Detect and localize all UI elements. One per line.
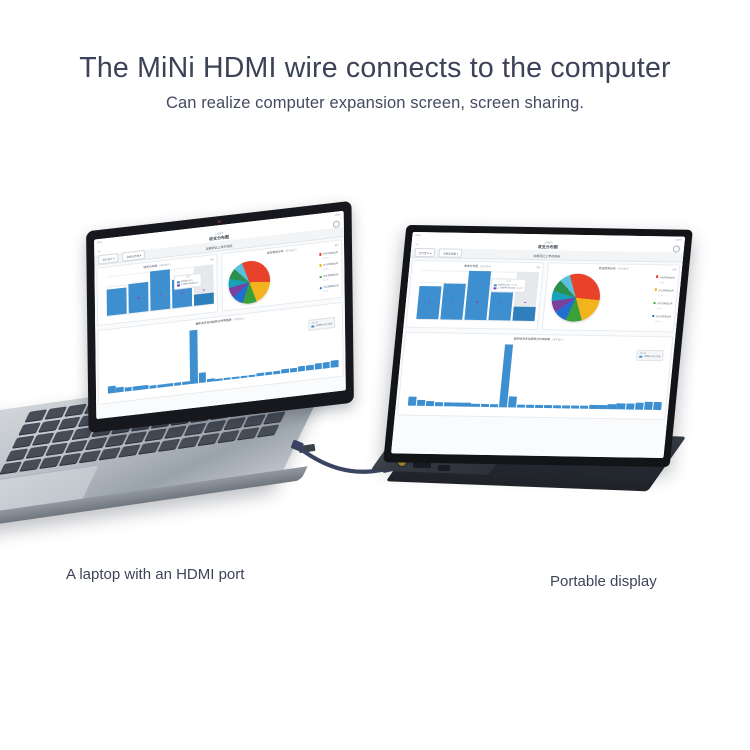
key[interactable] — [204, 420, 226, 433]
histogram-panel: 最新收支变动趋势分布明细表 (全年合计) 较上期 当期统计(亿) 月度 — [397, 332, 674, 420]
legend-value: 44.2% — [659, 282, 665, 284]
pie-panel-title: 收支类型分布 — [267, 249, 284, 255]
histogram-bar — [116, 387, 124, 393]
pie-panel-more[interactable]: 更多 — [335, 242, 339, 247]
key[interactable] — [32, 433, 54, 446]
key[interactable] — [25, 446, 47, 459]
histogram-bar — [323, 361, 331, 368]
histogram-bar — [417, 400, 426, 406]
pie-panel-subtitle: (全行合计) — [617, 267, 629, 271]
key[interactable] — [224, 417, 246, 430]
key[interactable] — [12, 436, 34, 449]
legend-swatch — [494, 285, 497, 287]
histogram-bar — [232, 376, 239, 379]
histogram-bar — [453, 403, 462, 407]
histogram-bar — [526, 405, 535, 408]
bar-panel-subtitle: (全行合计) — [159, 262, 170, 267]
key[interactable] — [178, 436, 200, 449]
key[interactable] — [65, 440, 87, 453]
page-subtitle: Can realize computer expansion screen, s… — [0, 94, 750, 113]
histogram-bar — [273, 370, 281, 374]
legend-swatch — [312, 325, 315, 327]
histogram-bar — [508, 396, 517, 407]
key[interactable] — [263, 412, 285, 425]
histogram-bar — [157, 384, 165, 388]
histogram-bar — [141, 385, 149, 390]
dashboard-section-title: 当期同比上年的指标 — [206, 244, 233, 251]
legend-label: 当期统计(亿) 月度 — [316, 323, 332, 328]
legend-swatch — [319, 253, 321, 256]
laptop-screen[interactable]: iPad 100% ← 上海银行 收支分布图 全行合计 ▾ 全部业务类 ▾ — [94, 211, 346, 419]
bar-inner — [512, 307, 536, 321]
portable-display-panel: iPad 100% ← 上海银行 收支分布图 全行合计 ▾ 全部业务类 ▾ — [383, 225, 693, 467]
caption-laptop: A laptop with an HDMI port — [66, 566, 244, 583]
histogram-bar — [471, 404, 480, 407]
histogram-bar — [626, 403, 635, 409]
legend-label: 对私存款类业务 — [660, 277, 676, 279]
legend-value: 11.5% — [657, 308, 662, 310]
histogram-legend: 较上期 当期统计(亿) 月度 — [636, 350, 664, 361]
key[interactable] — [197, 433, 219, 446]
bar-column — [416, 270, 443, 319]
histogram-bar — [562, 406, 571, 409]
bar-panel-more[interactable]: 更多 — [210, 257, 214, 262]
legend-label: 对公贷款类业务 — [323, 285, 338, 289]
histogram-bars — [107, 313, 338, 393]
dashboard-top-row: 收支分布图 (全行合计) 更多 上月 — [403, 258, 682, 335]
overlay-point — [476, 301, 478, 302]
histogram-chart: 较上期 当期统计(亿) 月度 — [408, 343, 667, 410]
status-right: 100% — [676, 238, 682, 241]
histogram-bar — [435, 402, 444, 407]
histogram-bar — [306, 364, 314, 370]
legend-swatch — [652, 315, 655, 317]
key[interactable] — [59, 453, 81, 466]
hist-panel-header: 最新收支变动趋势分布明细表 (全年合计) — [407, 335, 670, 344]
overlay-point — [203, 289, 204, 291]
histogram-bar — [462, 403, 471, 407]
histogram-bar — [215, 378, 222, 381]
bar-panel-header: 收支分布图 (全行合计) — [414, 263, 541, 269]
key[interactable] — [98, 448, 120, 461]
histogram-bar — [265, 372, 273, 376]
histogram-bar — [248, 374, 255, 377]
heading-block: The MiNi HDMI wire connects to the compu… — [0, 52, 750, 113]
legend-label: 对公存款类业务 — [658, 290, 674, 292]
key[interactable] — [118, 445, 140, 458]
bar-column — [440, 270, 467, 319]
histogram-bar — [290, 367, 298, 372]
overlay-point — [428, 302, 430, 303]
pie-chart-legend: 对私存款类业务44.2% 对公存款类业务21.3% 对私贷款类业务11.5% — [319, 251, 339, 294]
bar-chart: 上月 收支统计(亿) 上月期平均日均(亿) — [106, 264, 213, 316]
status-left: iPad — [97, 240, 102, 244]
caption-portable-display: Portable display — [550, 573, 657, 590]
legend-value: 8.7% — [655, 321, 660, 323]
legend-value: 21.3% — [323, 268, 328, 271]
histogram-bar — [544, 406, 553, 409]
bar-panel-title: 收支分布图 — [464, 264, 478, 268]
bar-column — [464, 271, 491, 320]
bar-inner — [194, 293, 214, 306]
histogram-bar — [480, 404, 489, 407]
histogram-bar — [281, 369, 289, 374]
key[interactable] — [78, 450, 100, 463]
legend-swatch — [639, 356, 642, 358]
webcam-icon — [217, 220, 220, 223]
histogram-bar — [240, 375, 247, 378]
legend-label: 当期统计(亿) 月度 — [644, 355, 661, 358]
dashboard-section-title: 当期同比上年的指标 — [533, 254, 560, 258]
legend-swatch — [320, 287, 322, 290]
pie-panel-header: 收支类型分布 (全行合计) — [551, 265, 678, 271]
legend-label: 上月期平均日均(亿) — [497, 287, 515, 290]
legend-item: 对公贷款类业务8.7% — [651, 314, 671, 323]
key[interactable] — [0, 462, 22, 475]
histogram-bar — [653, 402, 662, 410]
legend-swatch — [319, 275, 321, 278]
pie-chart — [549, 273, 602, 322]
pie-chart-panel: 收支类型分布 (全行合计) 更多 对私 — [221, 239, 343, 311]
key[interactable] — [58, 417, 80, 430]
histogram-chart: 较上期 当期统计(亿) 月度 — [107, 313, 338, 393]
product-scene: iPad 100% ← 上海银行 收支分布图 全行合计 ▾ 全部业务类 ▾ — [0, 195, 750, 565]
status-left: iPad — [415, 234, 420, 237]
key[interactable] — [164, 426, 186, 439]
pie-chart-disc — [228, 259, 270, 306]
status-right: 100% — [335, 213, 341, 217]
legend-label: 对私存款类业务 — [323, 252, 338, 256]
pie-panel-title: 收支类型分布 — [599, 266, 616, 270]
histogram-bar — [149, 385, 157, 389]
laptop-hdmi-port[interactable] — [299, 444, 316, 453]
hist-panel-subtitle: (全年合计) — [552, 337, 564, 341]
key[interactable] — [25, 409, 47, 422]
hist-panel-title: 最新收支变动趋势分布明细表 — [196, 318, 232, 326]
histogram-bar — [589, 405, 598, 409]
legend-item: 对公存款类业务21.3% — [654, 288, 674, 297]
histogram-bar — [489, 404, 498, 407]
dashboard-laptop: iPad 100% ← 上海银行 收支分布图 全行合计 ▾ 全部业务类 ▾ — [94, 211, 346, 419]
dashboard-portable: iPad 100% ← 上海银行 收支分布图 全行合计 ▾ 全部业务类 ▾ — [391, 232, 685, 458]
legend-swatch — [656, 276, 659, 278]
legend-value: 44.2% — [323, 257, 328, 260]
histogram-bar — [535, 405, 544, 408]
filter-category[interactable]: 全部业务类 ▾ — [439, 249, 463, 258]
pie-chart — [228, 259, 270, 306]
laptop-screen-lid: iPad 100% ← 上海银行 收支分布图 全行合计 ▾ 全部业务类 ▾ — [86, 201, 354, 433]
legend-value: 8.7% — [323, 291, 327, 294]
legend-item: 对私存款类业务44.2% — [319, 251, 338, 260]
portable-display-screen[interactable]: iPad 100% ← 上海银行 收支分布图 全行合计 ▾ 全部业务类 ▾ — [391, 232, 685, 458]
key[interactable] — [44, 406, 66, 419]
legend-item: 对私贷款类业务11.5% — [653, 301, 673, 310]
key[interactable] — [6, 449, 28, 462]
histogram-bar — [598, 405, 607, 410]
overlay-point — [181, 292, 182, 294]
key[interactable] — [125, 432, 147, 445]
key[interactable] — [184, 423, 206, 436]
bar-column — [106, 274, 127, 316]
filter-scope[interactable]: 全行合计 ▾ — [414, 248, 435, 257]
key[interactable] — [257, 425, 279, 438]
portable-display-device: iPad 100% ← 上海银行 收支分布图 全行合计 ▾ 全部业务类 ▾ — [375, 195, 715, 545]
histogram-bar — [444, 402, 453, 407]
page-title: The MiNi HDMI wire connects to the compu… — [0, 52, 750, 85]
key[interactable] — [158, 439, 180, 452]
legend-item: 当期统计(亿) 月度 — [639, 355, 660, 358]
bar-chart-bars — [106, 264, 213, 316]
histogram-bar — [124, 387, 132, 392]
legend-swatch — [655, 289, 658, 291]
key[interactable] — [237, 428, 259, 441]
histogram-bar — [426, 401, 435, 406]
bar-chart-bars — [416, 270, 539, 321]
legend-label: 对公贷款类业务 — [656, 316, 672, 318]
bar-panel-more[interactable]: 更多 — [536, 265, 541, 269]
histogram-bar — [257, 373, 265, 377]
bar-chart-panel: 收支分布图 (全行合计) 更多 上月 — [405, 260, 544, 330]
histogram-bars — [408, 343, 667, 410]
histogram-bar — [298, 366, 306, 372]
histogram-bar — [571, 405, 580, 408]
product-image-canvas: The MiNi HDMI wire connects to the compu… — [0, 0, 750, 750]
bar — [150, 269, 171, 311]
histogram-bar — [108, 385, 116, 393]
legend-item: 对私存款类业务44.2% — [655, 275, 675, 284]
legend-item: 对公存款类业务21.3% — [319, 262, 338, 271]
histogram-bar — [580, 406, 589, 409]
legend-swatch — [319, 264, 321, 267]
filter-category[interactable]: 全部业务类 ▾ — [122, 250, 145, 261]
histogram-bar — [166, 383, 174, 387]
key[interactable] — [138, 442, 160, 455]
legend-value: 11.5% — [323, 279, 328, 282]
legend-item: 上月期平均日均(亿) 较上期 — [493, 287, 522, 291]
overlay-point — [138, 297, 139, 299]
legend-item: 对私贷款类业务11.5% — [319, 273, 338, 282]
histogram-bar — [133, 386, 141, 391]
histogram-bar — [644, 402, 653, 410]
pie-chart-panel: 收支类型分布 (全行合计) 更多 对私 — [542, 262, 681, 332]
legend-item: 对公贷款类业务8.7% — [320, 284, 339, 293]
legend-swatch — [493, 288, 496, 290]
key[interactable] — [217, 430, 239, 443]
filter-scope[interactable]: 全行合计 ▾ — [98, 253, 118, 264]
bar-panel-title: 收支分布图 — [143, 264, 157, 270]
histogram-bar — [207, 379, 215, 383]
histogram-bar — [199, 373, 207, 383]
histogram-bar — [190, 330, 198, 384]
legend-swatch — [653, 302, 656, 304]
back-arrow-icon[interactable]: ← — [414, 242, 419, 247]
legend-label: 对私贷款类业务 — [323, 274, 338, 278]
laptop-device: iPad 100% ← 上海银行 收支分布图 全行合计 ▾ 全部业务类 ▾ — [0, 195, 390, 555]
hist-panel-subtitle: (全年合计) — [233, 316, 244, 321]
pie-panel-more[interactable]: 更多 — [672, 267, 677, 271]
key[interactable] — [64, 404, 86, 417]
key[interactable] — [38, 420, 60, 433]
key[interactable] — [144, 429, 166, 442]
pie-panel-subtitle: (全行合计) — [285, 248, 296, 253]
legend-value: 较上期 — [517, 288, 523, 291]
bar-column — [128, 272, 149, 314]
bar-chart-panel: 收支分布图 (全行合计) 更多 上月 — [96, 254, 218, 326]
bar — [464, 271, 491, 320]
histogram-bar — [408, 397, 417, 406]
bar-column — [150, 269, 171, 311]
key[interactable] — [18, 422, 40, 435]
histogram-bar — [182, 381, 190, 385]
key[interactable] — [39, 456, 61, 469]
histogram-bar — [314, 363, 322, 370]
bar-chart-legend: 上月 收支统计(亿) 较上期 上月期平均日均(亿) — [490, 278, 527, 293]
key[interactable] — [19, 459, 41, 472]
legend-label: 上月期平均日均(亿) — [181, 282, 199, 287]
histogram-bar — [635, 403, 644, 410]
pie-chart-disc — [549, 273, 602, 322]
histogram-bar — [224, 377, 231, 380]
hist-panel-title: 最新收支变动趋势分布明细表 — [514, 337, 551, 342]
key[interactable] — [243, 414, 265, 427]
legend-swatch — [177, 285, 180, 287]
key[interactable] — [52, 430, 74, 443]
histogram-bar — [517, 404, 526, 407]
histogram-bar — [174, 382, 182, 386]
histogram-bar — [616, 404, 625, 410]
pie-chart-legend: 对私存款类业务44.2% 对公存款类业务21.3% 对私贷款类业务11.5% — [651, 275, 675, 324]
key[interactable] — [45, 443, 67, 456]
histogram-bar — [607, 404, 616, 409]
key[interactable] — [105, 434, 127, 447]
usb-c-port[interactable] — [438, 465, 450, 471]
legend-value: 21.3% — [658, 295, 664, 297]
histogram-bar — [553, 406, 562, 409]
bar-panel-subtitle: (全行合计) — [480, 264, 492, 268]
key[interactable] — [85, 437, 107, 450]
legend-label: 对公存款类业务 — [323, 263, 338, 267]
bar-chart: 上月 收支统计(亿) 较上期 上月期平均日均(亿) — [416, 270, 539, 321]
legend-label: 对私贷款类业务 — [657, 303, 673, 305]
back-arrow-icon[interactable]: ← — [97, 249, 102, 255]
histogram-bar — [331, 360, 339, 368]
